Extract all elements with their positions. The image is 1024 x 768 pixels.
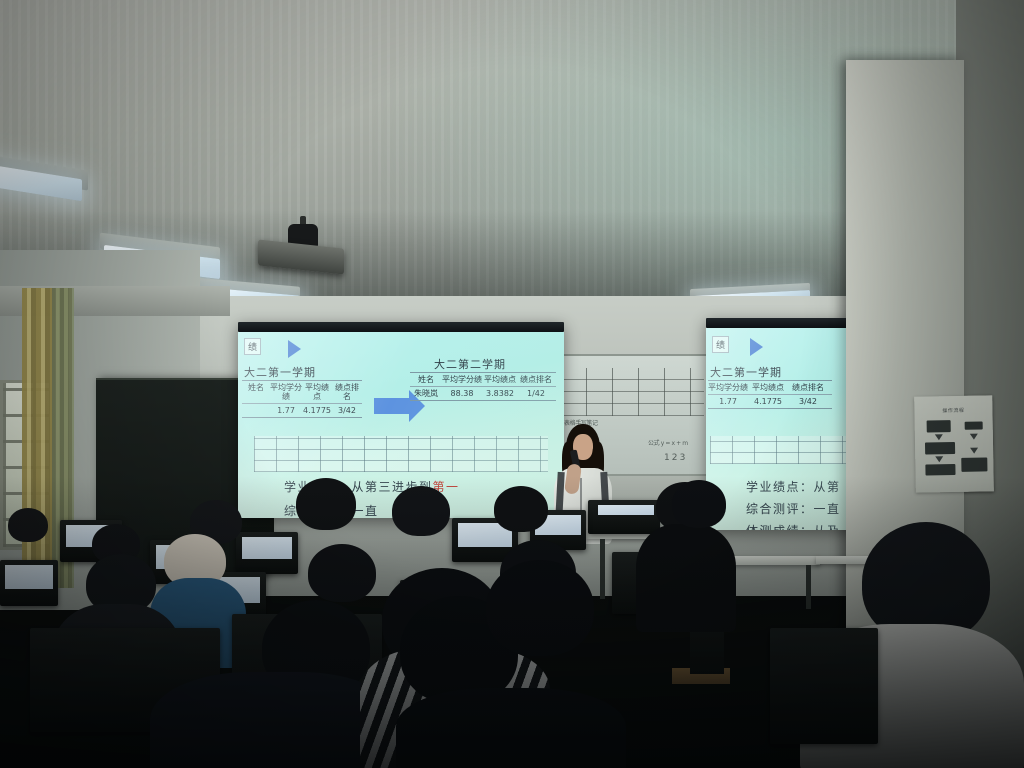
poster-front-arrow-4 — [970, 448, 978, 454]
student-head-r3-5 — [392, 486, 450, 536]
wall-poster-flowchart-front: 操作流程 — [914, 395, 994, 492]
poster-front-node-4 — [965, 421, 983, 429]
poster-title-front: 操作流程 — [914, 406, 992, 414]
poster-front-arrow-2 — [935, 456, 943, 462]
poster-front-node-3 — [925, 464, 955, 476]
desk-leg-1 — [600, 539, 605, 599]
desk-leg-4 — [806, 565, 811, 609]
student-head-r3-4 — [296, 478, 356, 530]
monitor-front-right — [770, 628, 878, 744]
student-head-r3-6 — [494, 486, 548, 532]
standing-student-head — [672, 480, 726, 528]
student-head-r3-1 — [8, 508, 48, 542]
monitor-row2-1-screen — [5, 565, 53, 589]
monitor-row3-3-screen — [242, 537, 292, 559]
poster-front-node-2 — [925, 442, 955, 455]
poster-front-arrow-3 — [970, 434, 978, 440]
poster-front-arrow-1 — [935, 434, 943, 440]
student-head-front-3 — [486, 560, 594, 656]
monitor-back-1-screen — [598, 505, 654, 515]
screen-roller-casing — [238, 322, 564, 332]
student-body-r3-7 — [636, 524, 736, 632]
poster-front-node-5 — [961, 457, 987, 471]
classroom-photo-scene: 操作流程 表格手写笔记 公式 y = x + m 1 2 3 绩 大二第一学期 — [0, 0, 1024, 768]
whiteboard-note-3: 1 2 3 — [664, 454, 685, 462]
whiteboard-drawn-table — [560, 368, 704, 416]
monitor-row2-1 — [0, 560, 58, 606]
monitor-back-1 — [588, 500, 660, 534]
monitor-row3-3 — [236, 532, 298, 574]
student-body-front-2 — [396, 688, 626, 768]
student-head-r2-3 — [308, 544, 376, 602]
whiteboard-note-2: 公式 y = x + m — [648, 440, 688, 448]
poster-front-node-1 — [927, 420, 951, 432]
